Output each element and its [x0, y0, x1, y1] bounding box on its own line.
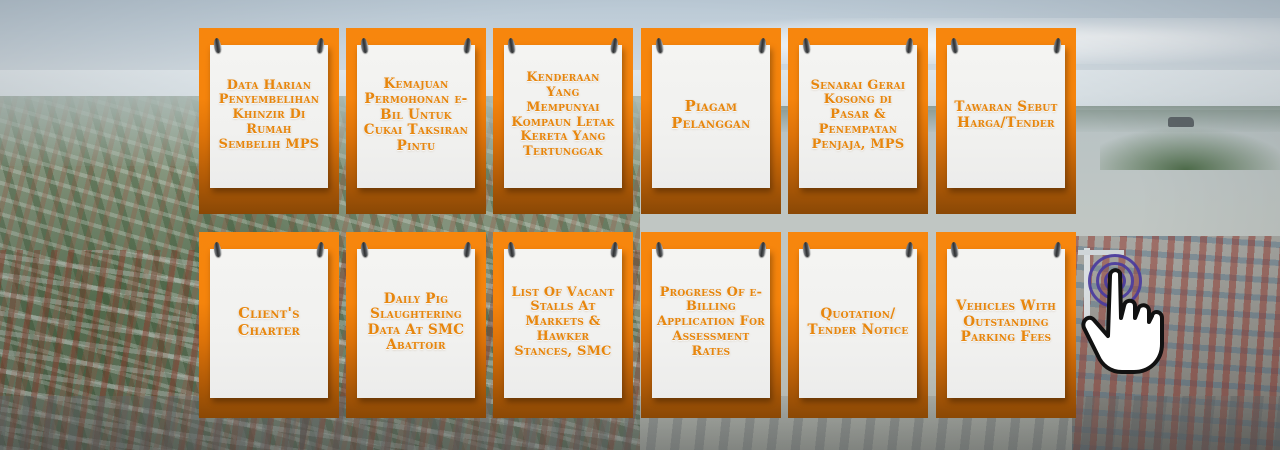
page-stage: Data Harian Penyembelihan Khinzir Di Rum… [0, 0, 1280, 450]
note-card-r2c4[interactable]: Progress Of e-Billing Application For As… [652, 249, 770, 398]
card-panel-r1c2[interactable]: Kemajuan Permohonan e-Bil Untuk Cukai Ta… [346, 28, 486, 214]
card-panel-r2c5[interactable]: Quotation/ Tender Notice [788, 232, 928, 418]
card-panel-r1c3[interactable]: Kenderaan Yang Mempunyai Kompaun Letak K… [493, 28, 633, 214]
card-label-r2c4: Progress Of e-Billing Application For As… [657, 286, 765, 360]
pin-icon-right [610, 38, 619, 54]
note-card-r1c6[interactable]: Tawaran Sebut Harga/Tender [947, 45, 1065, 188]
pin-icon-left [213, 38, 222, 54]
pin-icon-right [758, 38, 767, 54]
card-label-r1c1: Data Harian Penyembelihan Khinzir Di Rum… [215, 79, 323, 153]
note-card-r2c2[interactable]: Daily Pig Slaughtering Data At SMC Abatt… [357, 249, 475, 398]
card-panel-r1c4[interactable]: Piagam Pelanggan [641, 28, 781, 214]
card-panel-r1c6[interactable]: Tawaran Sebut Harga/Tender [936, 28, 1076, 214]
card-label-r1c3: Kenderaan Yang Mempunyai Kompaun Letak K… [509, 71, 617, 160]
card-panel-r2c6[interactable]: Vehicles With Outstanding Parking Fees [936, 232, 1076, 418]
pin-icon-right [905, 38, 914, 54]
card-panel-r1c1[interactable]: Data Harian Penyembelihan Khinzir Di Rum… [199, 28, 339, 214]
pin-icon-left [360, 38, 369, 54]
pin-icon-right [1053, 38, 1062, 54]
note-card-r2c6[interactable]: Vehicles With Outstanding Parking Fees [947, 249, 1065, 398]
pin-icon-right [316, 242, 325, 258]
note-card-r2c5[interactable]: Quotation/ Tender Notice [799, 249, 917, 398]
card-label-r2c5: Quotation/ Tender Notice [804, 307, 912, 338]
card-label-r2c6: Vehicles With Outstanding Parking Fees [952, 299, 1060, 346]
card-label-r2c2: Daily Pig Slaughtering Data At SMC Abatt… [362, 292, 470, 354]
pin-icon-left [655, 38, 664, 54]
card-label-r2c3: List Of Vacant Stalls At Markets & Hawke… [509, 286, 617, 360]
pin-icon-right [316, 38, 325, 54]
pin-icon-right [463, 242, 472, 258]
note-card-r1c4[interactable]: Piagam Pelanggan [652, 45, 770, 188]
card-label-r1c5: Senarai Gerai Kosong di Pasar & Penempat… [804, 79, 912, 153]
card-row-2: Client's Charter Daily Pig Slaughtering … [199, 232, 1076, 418]
note-card-r2c3[interactable]: List Of Vacant Stalls At Markets & Hawke… [504, 249, 622, 398]
pin-icon-right [463, 38, 472, 54]
pin-icon-right [1053, 242, 1062, 258]
note-card-r1c3[interactable]: Kenderaan Yang Mempunyai Kompaun Letak K… [504, 45, 622, 188]
card-panel-r2c2[interactable]: Daily Pig Slaughtering Data At SMC Abatt… [346, 232, 486, 418]
pin-icon-left [507, 242, 516, 258]
pin-icon-left [213, 242, 222, 258]
card-label-r1c6: Tawaran Sebut Harga/Tender [952, 100, 1060, 131]
pin-icon-right [610, 242, 619, 258]
pin-icon-left [655, 242, 664, 258]
pin-icon-left [360, 242, 369, 258]
pin-icon-left [950, 242, 959, 258]
pin-icon-right [758, 242, 767, 258]
card-label-r1c4: Piagam Pelanggan [657, 99, 765, 132]
card-label-r1c2: Kemajuan Permohonan e-Bil Untuk Cukai Ta… [362, 77, 470, 155]
card-panel-r2c3[interactable]: List Of Vacant Stalls At Markets & Hawke… [493, 232, 633, 418]
pin-icon-left [802, 38, 811, 54]
pin-icon-left [950, 38, 959, 54]
card-label-r2c1: Client's Charter [215, 306, 323, 339]
card-panel-r2c1[interactable]: Client's Charter [199, 232, 339, 418]
note-card-r1c5[interactable]: Senarai Gerai Kosong di Pasar & Penempat… [799, 45, 917, 188]
note-card-r1c2[interactable]: Kemajuan Permohonan e-Bil Untuk Cukai Ta… [357, 45, 475, 188]
card-row-1: Data Harian Penyembelihan Khinzir Di Rum… [199, 28, 1076, 214]
pin-icon-left [507, 38, 516, 54]
pin-icon-left [802, 242, 811, 258]
card-panel-r2c4[interactable]: Progress Of e-Billing Application For As… [641, 232, 781, 418]
note-card-r1c1[interactable]: Data Harian Penyembelihan Khinzir Di Rum… [210, 45, 328, 188]
card-panel-r1c5[interactable]: Senarai Gerai Kosong di Pasar & Penempat… [788, 28, 928, 214]
note-card-r2c1[interactable]: Client's Charter [210, 249, 328, 398]
pin-icon-right [905, 242, 914, 258]
